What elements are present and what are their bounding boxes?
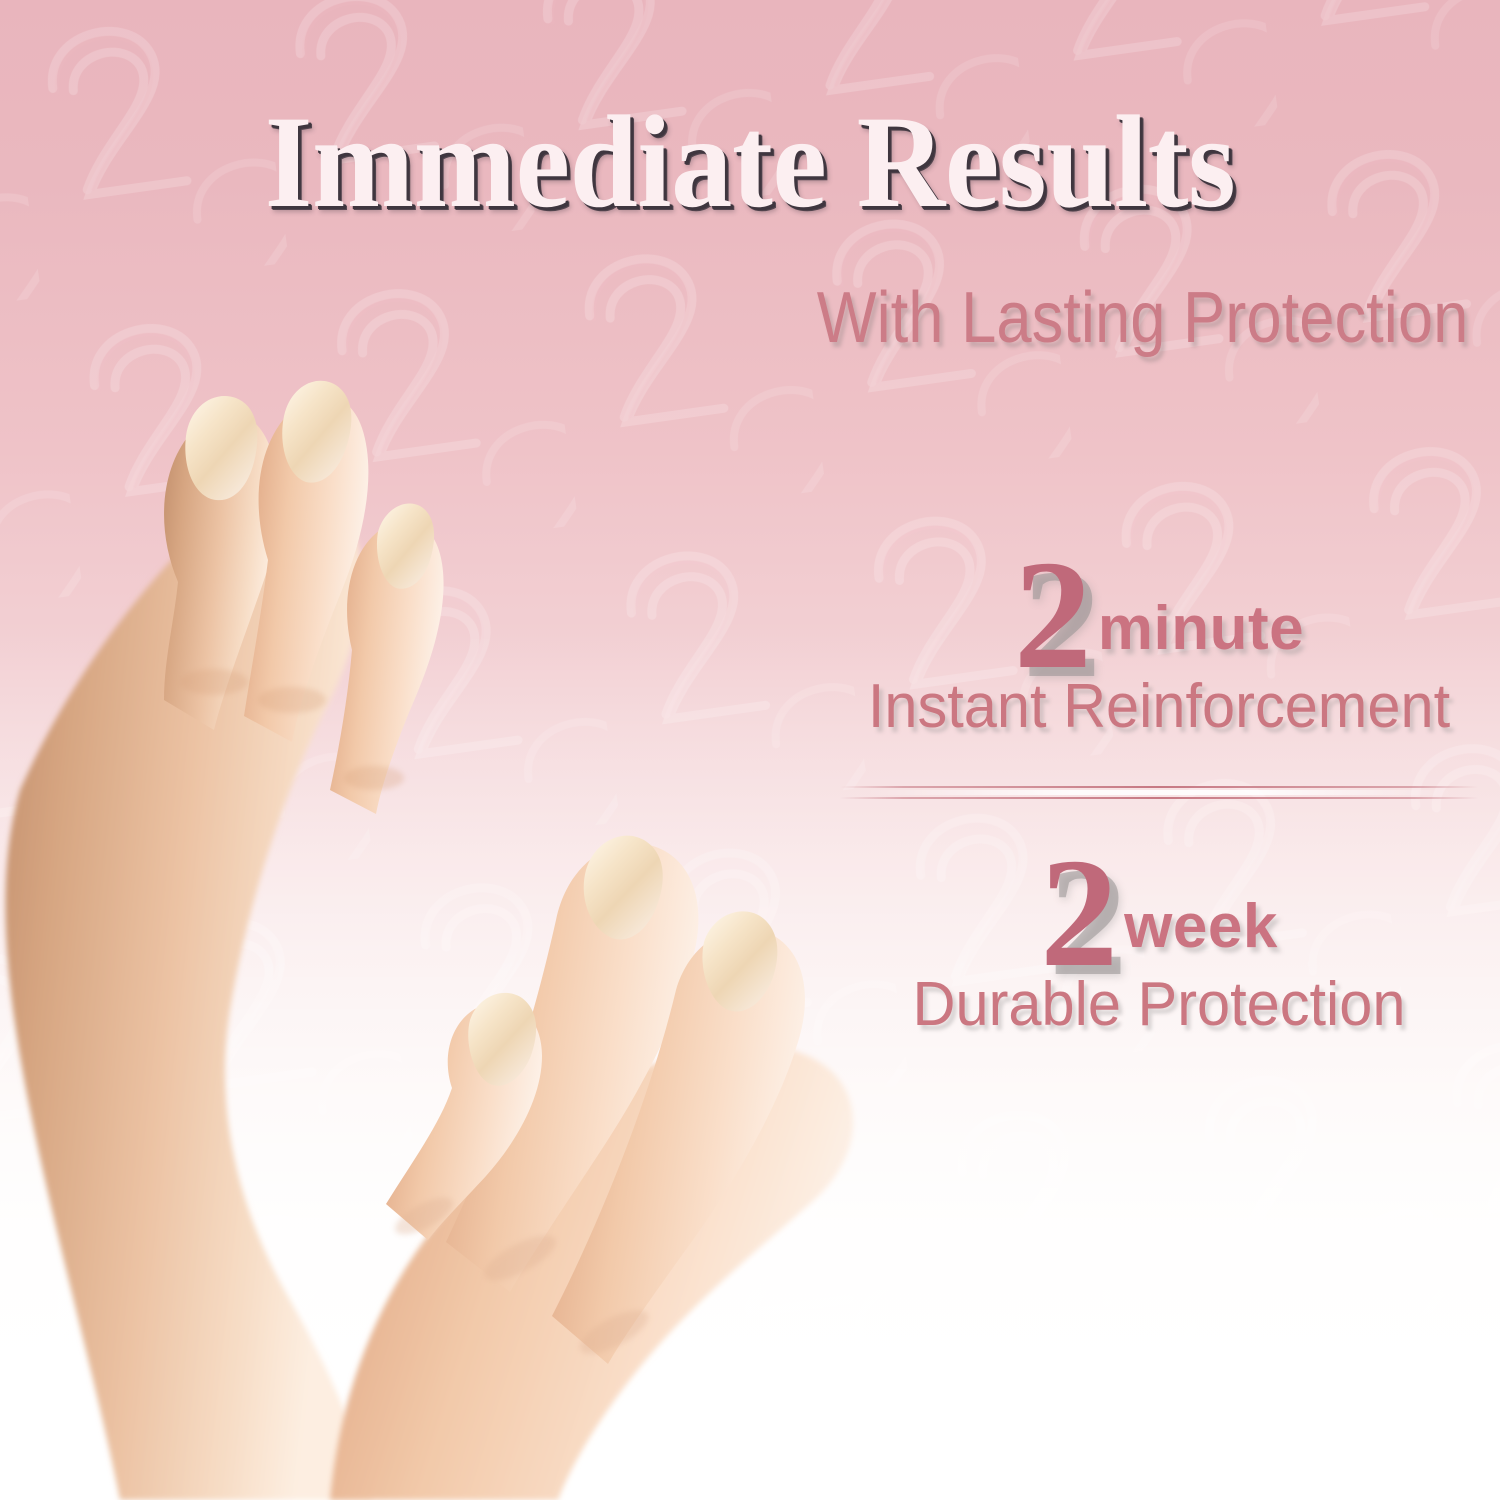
claim-instant-reinforcement: 2 minute Instant Reinforcement (840, 548, 1478, 738)
claim-durable-protection: 2 week Durable Protection (840, 846, 1478, 1036)
claims-divider (840, 764, 1478, 824)
claim-description: Instant Reinforcement (853, 676, 1465, 738)
page-subtitle: With Lasting Protection (180, 282, 1500, 354)
claim-headline-row: 2 minute (840, 548, 1478, 682)
divider-rule-top (840, 786, 1478, 788)
divider-gloss (866, 790, 1453, 795)
divider-rule-bottom (840, 797, 1478, 799)
claim-unit: minute (1098, 598, 1304, 682)
claim-number: 2 (1014, 548, 1092, 682)
product-marketing-banner: Immediate Results With Lasting Protectio… (0, 0, 1500, 1500)
claim-description: Durable Protection (853, 974, 1465, 1036)
claim-unit: week (1124, 896, 1278, 980)
claim-number: 2 (1040, 846, 1118, 980)
claims-column: 2 minute Instant Reinforcement 2 week Du… (840, 548, 1500, 1036)
claim-headline-row: 2 week (840, 846, 1478, 980)
page-title: Immediate Results (53, 96, 1448, 228)
